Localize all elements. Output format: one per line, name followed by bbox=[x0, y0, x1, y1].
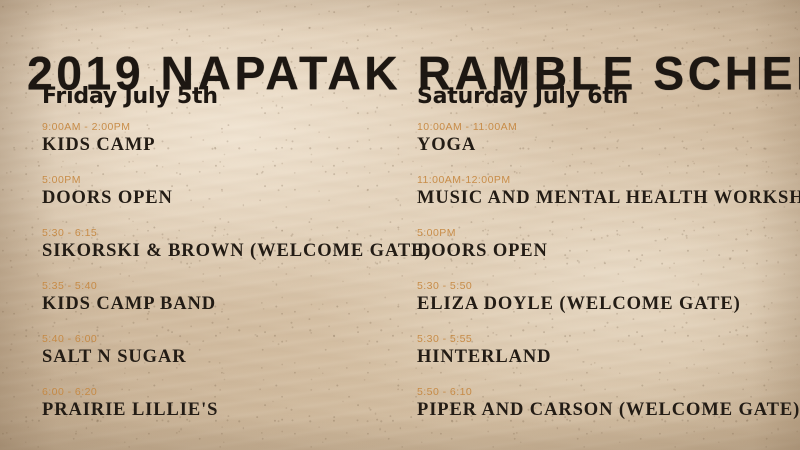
list-item: 5:30 - 5:50 ELIZA DOYLE (WELCOME GATE) bbox=[417, 280, 800, 316]
event-time: 10:00AM - 11:00AM bbox=[417, 121, 800, 134]
event-time: 5:50 - 6:10 bbox=[417, 386, 800, 399]
list-item: 5:00PM DOORS OPEN bbox=[417, 227, 800, 263]
event-name: YOGA bbox=[417, 134, 800, 157]
event-time: 6:00 - 6:20 bbox=[42, 386, 427, 399]
day-column-friday: Friday July 5th 9:00AM - 2:00PM KIDS CAM… bbox=[42, 84, 427, 439]
event-time: 9:00AM - 2:00PM bbox=[42, 121, 427, 134]
event-name: DOORS OPEN bbox=[417, 240, 800, 263]
event-time: 5:00PM bbox=[417, 227, 800, 240]
event-name: MUSIC AND MENTAL HEALTH WORKSHOP bbox=[417, 187, 800, 210]
event-time: 5:30 - 5:55 bbox=[417, 333, 800, 346]
event-time: 5:00PM bbox=[42, 174, 427, 187]
event-time: 5:40 - 6:00 bbox=[42, 333, 427, 346]
event-list-friday: 9:00AM - 2:00PM KIDS CAMP 5:00PM DOORS O… bbox=[42, 121, 427, 422]
event-name: ELIZA DOYLE (WELCOME GATE) bbox=[417, 293, 800, 316]
day-heading-saturday: Saturday July 6th bbox=[417, 84, 800, 110]
list-item: 11:00AM-12:00PM MUSIC AND MENTAL HEALTH … bbox=[417, 174, 800, 210]
list-item: 5:35 - 5:40 KIDS CAMP BAND bbox=[42, 280, 427, 316]
event-list-saturday: 10:00AM - 11:00AM YOGA 11:00AM-12:00PM M… bbox=[417, 121, 800, 422]
event-name: PRAIRIE LILLIE'S bbox=[42, 399, 427, 422]
list-item: 5:50 - 6:10 PIPER AND CARSON (WELCOME GA… bbox=[417, 386, 800, 422]
day-heading-friday: Friday July 5th bbox=[42, 84, 427, 110]
event-name: KIDS CAMP BAND bbox=[42, 293, 427, 316]
schedule-columns: Friday July 5th 9:00AM - 2:00PM KIDS CAM… bbox=[0, 84, 800, 444]
event-name: HINTERLAND bbox=[417, 346, 800, 369]
list-item: 6:00 - 6:20 PRAIRIE LILLIE'S bbox=[42, 386, 427, 422]
schedule-poster: 2019 NAPATAK RAMBLE SCHEDULE Friday July… bbox=[0, 0, 800, 450]
list-item: 10:00AM - 11:00AM YOGA bbox=[417, 121, 800, 157]
list-item: 5:40 - 6:00 SALT N SUGAR bbox=[42, 333, 427, 369]
event-name: DOORS OPEN bbox=[42, 187, 427, 210]
poster-content: 2019 NAPATAK RAMBLE SCHEDULE Friday July… bbox=[0, 0, 800, 450]
event-name: KIDS CAMP bbox=[42, 134, 427, 157]
list-item: 5:30 - 6:15 SIKORSKI & BROWN (WELCOME GA… bbox=[42, 227, 427, 263]
event-name: SALT N SUGAR bbox=[42, 346, 427, 369]
day-column-saturday: Saturday July 6th 10:00AM - 11:00AM YOGA… bbox=[417, 84, 800, 439]
event-time: 5:30 - 6:15 bbox=[42, 227, 427, 240]
event-name: SIKORSKI & BROWN (WELCOME GATE) bbox=[42, 240, 427, 263]
event-time: 5:35 - 5:40 bbox=[42, 280, 427, 293]
list-item: 9:00AM - 2:00PM KIDS CAMP bbox=[42, 121, 427, 157]
event-time: 11:00AM-12:00PM bbox=[417, 174, 800, 187]
event-name: PIPER AND CARSON (WELCOME GATE) bbox=[417, 399, 800, 422]
list-item: 5:00PM DOORS OPEN bbox=[42, 174, 427, 210]
event-time: 5:30 - 5:50 bbox=[417, 280, 800, 293]
list-item: 5:30 - 5:55 HINTERLAND bbox=[417, 333, 800, 369]
